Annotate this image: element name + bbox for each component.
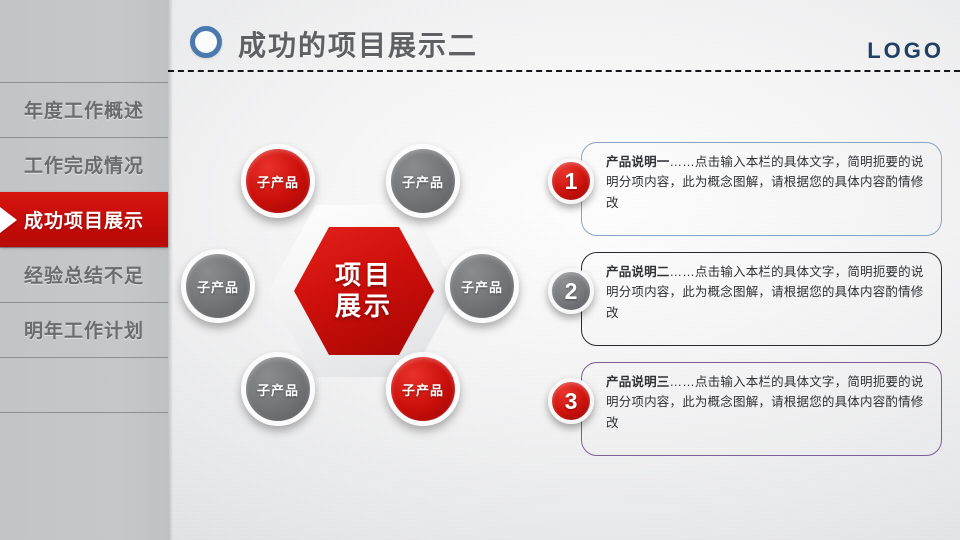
sidebar-item-label: 经验总结不足 [24,261,144,288]
panel-number: 1 [565,168,578,195]
diagram-node-label: 子产品 [257,380,299,399]
sidebar-item-label: 年度工作概述 [24,96,144,123]
description-panel[interactable]: 1 产品说明一……点击输入本栏的具体文字，简明扼要的说明分项内容，此为概念图解，… [548,138,948,244]
slide-canvas: 年度工作概述 工作完成情况 成功项目展示 经验总结不足 明年工作计划 成功的项目… [0,0,960,540]
diagram-node-right[interactable]: 子产品 [445,249,519,323]
sidebar-item-annual-overview[interactable]: 年度工作概述 [0,82,168,137]
circle-outline-icon [190,26,222,58]
sidebar-item-work-completion[interactable]: 工作完成情况 [0,137,168,192]
panel-lead: 产品说明一 [606,155,670,169]
sidebar-item-project-showcase[interactable]: 成功项目展示 [0,192,168,247]
hexagon-center-line2: 展示 [335,291,393,322]
slide-header: 成功的项目展示二 LOGO [168,0,960,72]
panel-lead: 产品说明二 [606,265,670,279]
description-panel[interactable]: 2 产品说明二……点击输入本栏的具体文字，简明扼要的说明分项内容，此为概念图解，… [548,248,948,354]
sidebar-item-label: 明年工作计划 [24,316,144,343]
sidebar-item-next-year-plan[interactable]: 明年工作计划 [0,302,168,357]
diagram-node-label: 子产品 [257,172,299,191]
panel-text: 产品说明三……点击输入本栏的具体文字，简明扼要的说明分项内容，此为概念图解，请根… [606,372,928,433]
diagram-node-top-right[interactable]: 子产品 [386,144,460,218]
panel-number-badge: 3 [548,378,594,424]
panel-lead: 产品说明三 [606,375,670,389]
diagram-node-label: 子产品 [402,172,444,191]
logo: LOGO [867,38,944,64]
panel-number-badge: 2 [548,268,594,314]
header-divider [168,70,960,72]
sidebar-nav: 年度工作概述 工作完成情况 成功项目展示 经验总结不足 明年工作计划 [0,0,168,540]
hexagon-diagram: 项目 展示 子产品 子产品 子产品 子产品 子产品 子产品 [193,130,538,450]
sidebar-item-experience-summary[interactable]: 经验总结不足 [0,247,168,302]
diagram-node-label: 子产品 [461,277,503,296]
panel-number: 3 [565,388,578,415]
sidebar-divider [0,412,168,413]
panel-text: 产品说明一……点击输入本栏的具体文字，简明扼要的说明分项内容，此为概念图解，请根… [606,152,928,213]
description-panel[interactable]: 3 产品说明三……点击输入本栏的具体文字，简明扼要的说明分项内容，此为概念图解，… [548,358,948,464]
page-title: 成功的项目展示二 [238,24,478,64]
sidebar-edge-shadow [168,0,173,540]
panel-number: 2 [565,278,578,305]
diagram-node-bottom-left[interactable]: 子产品 [241,352,315,426]
sidebar-divider [0,357,168,358]
diagram-node-left[interactable]: 子产品 [181,249,255,323]
panel-number-badge: 1 [548,158,594,204]
active-arrow-icon [0,207,17,233]
description-panel-list: 1 产品说明一……点击输入本栏的具体文字，简明扼要的说明分项内容，此为概念图解，… [548,138,948,468]
panel-text: 产品说明二……点击输入本栏的具体文字，简明扼要的说明分项内容，此为概念图解，请根… [606,262,928,323]
diagram-node-bottom-right[interactable]: 子产品 [386,352,460,426]
diagram-node-label: 子产品 [197,277,239,296]
diagram-node-top-left[interactable]: 子产品 [241,144,315,218]
sidebar-item-label: 工作完成情况 [24,151,144,178]
diagram-node-label: 子产品 [402,380,444,399]
hexagon-center-line1: 项目 [335,260,393,291]
sidebar-item-label: 成功项目展示 [24,206,144,233]
